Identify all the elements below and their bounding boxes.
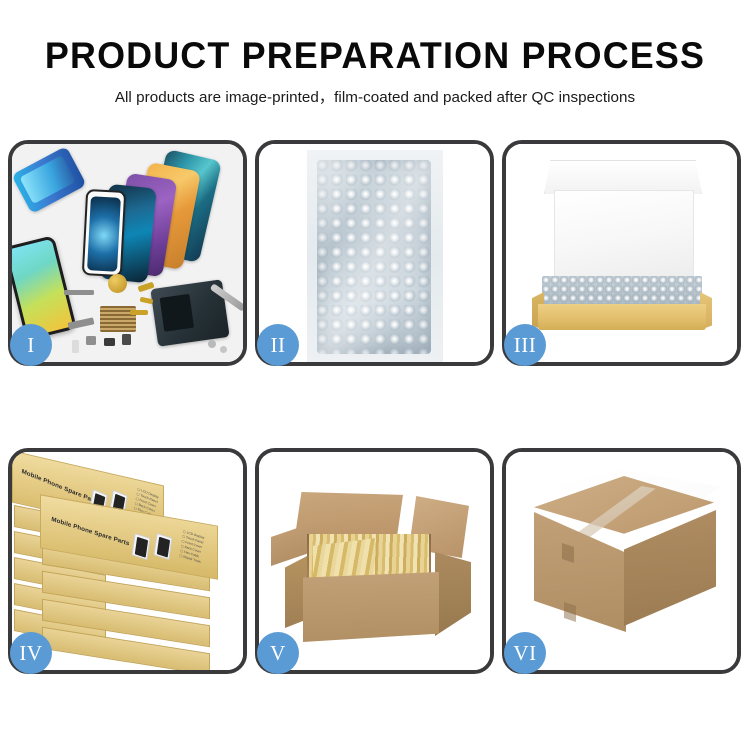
- step-badge-2: II: [257, 324, 299, 366]
- inner-box-photo: [506, 144, 737, 362]
- step-image-3: [506, 144, 737, 362]
- stacked-boxes-photo: Mobile Phone Spare Parts ▢ LCD Display▢ …: [12, 452, 243, 670]
- step-image-5: [259, 452, 490, 670]
- step-panel-6: VI: [502, 448, 741, 674]
- step-image-6: [506, 452, 737, 670]
- kraft-box-front: [538, 304, 706, 330]
- box-lid-flap: [544, 160, 702, 194]
- step-image-1: [12, 144, 243, 362]
- flex-cable-1: [64, 290, 94, 295]
- step-panel-2: II: [255, 140, 494, 366]
- screw-1: [208, 340, 216, 348]
- page-title: PRODUCT PREPARATION PROCESS: [11, 36, 739, 76]
- step-panel-3: III: [502, 140, 741, 366]
- step-image-2: [259, 144, 490, 362]
- step-panel-1: I: [8, 140, 247, 366]
- step-image-4: Mobile Phone Spare Parts ▢ LCD Display▢ …: [12, 452, 243, 670]
- step-panel-5: V: [255, 448, 494, 674]
- gold-connector-3: [130, 310, 148, 315]
- box-checklist-front: ▢ LCD Display▢ Touch Panel▢ Front Cover▢…: [179, 529, 205, 564]
- step-badge-4: IV: [10, 632, 52, 674]
- sim-tray: [72, 340, 79, 353]
- screw-2: [220, 346, 227, 353]
- step-badge-6: VI: [504, 632, 546, 674]
- sealed-carton-photo: [506, 452, 737, 670]
- step-badge-1: I: [10, 324, 52, 366]
- small-chip-3: [122, 334, 131, 345]
- process-steps-grid: I II: [8, 140, 742, 684]
- page-subtitle: All products are image-printed，film-coat…: [0, 85, 750, 107]
- carton-right-face: [435, 552, 471, 636]
- box-label-text-front: Mobile Phone Spare Parts: [51, 516, 130, 547]
- box-phone-thumb-front-2: [153, 533, 172, 560]
- bubble-wrap-photo: [259, 144, 490, 362]
- tempered-glass-screen: [82, 189, 126, 277]
- carton-front-face: [303, 572, 439, 642]
- carton-seam-upper: [562, 543, 574, 563]
- step-badge-3: III: [504, 324, 546, 366]
- blue-lcd-panel: [12, 146, 87, 214]
- filled-carton-photo: [259, 452, 490, 670]
- product-preparation-process-page: PRODUCT PREPARATION PROCESS All products…: [0, 0, 750, 750]
- step-badge-5: V: [257, 632, 299, 674]
- box-stack: Mobile Phone Spare Parts ▢ LCD Display▢ …: [12, 452, 243, 670]
- plastic-gloss-highlight: [317, 160, 431, 354]
- page-header: PRODUCT PREPARATION PROCESS All products…: [0, 0, 750, 107]
- box-phone-thumb-front-1: [131, 533, 150, 560]
- small-chip-2: [104, 338, 115, 346]
- phone-parts-photo: [12, 144, 243, 362]
- small-chip-1: [86, 336, 96, 345]
- white-foam-insert: [554, 190, 694, 278]
- step-panel-4: Mobile Phone Spare Parts ▢ LCD Display▢ …: [8, 448, 247, 674]
- carton-seam-lower: [564, 602, 576, 622]
- speaker-part: [108, 274, 127, 293]
